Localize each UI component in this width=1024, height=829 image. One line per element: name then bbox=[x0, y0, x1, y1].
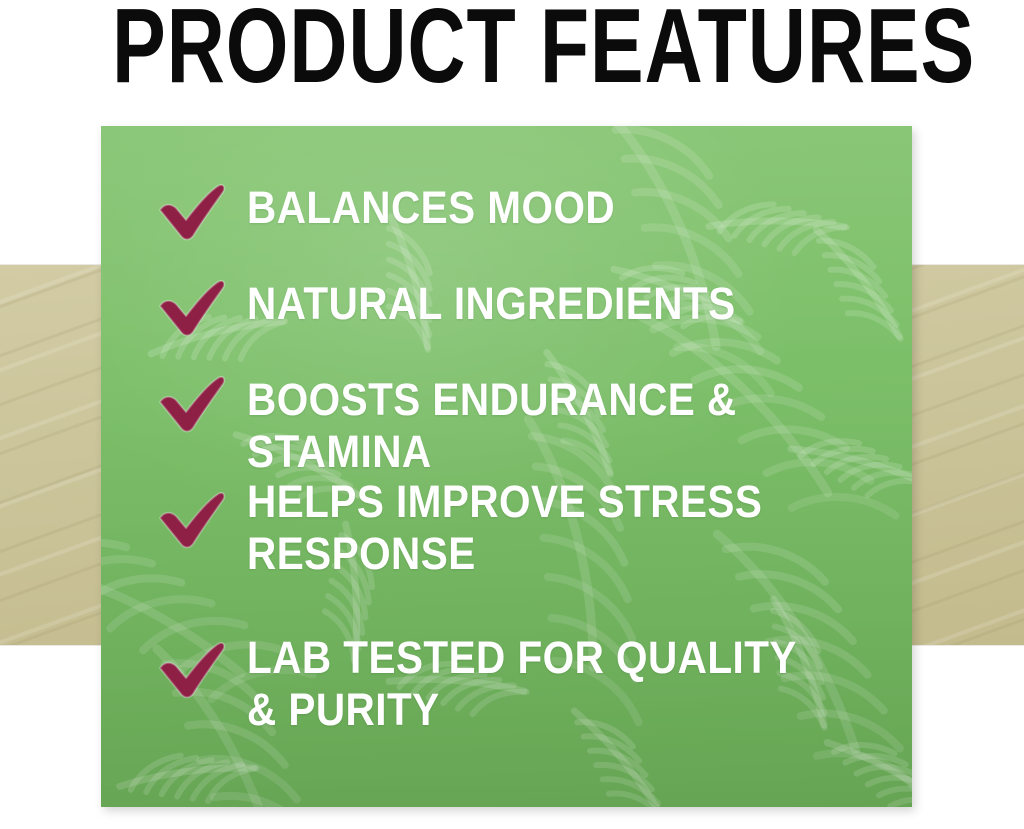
feature-label: HELPS IMPROVE STRESS RESPONSE bbox=[247, 476, 838, 580]
feature-label: BALANCES MOOD bbox=[247, 182, 838, 234]
feature-label: LAB TESTED FOR QUALITY & PURITY bbox=[247, 632, 838, 736]
check-icon bbox=[155, 278, 227, 336]
list-item: HELPS IMPROVE STRESS RESPONSE bbox=[155, 476, 904, 580]
infographic-canvas: PRODUCT FEATURES bbox=[0, 0, 1024, 829]
check-icon bbox=[155, 640, 227, 698]
list-item: BALANCES MOOD bbox=[155, 182, 904, 240]
features-panel: BALANCES MOOD NATURAL INGREDIENTS BOOSTS… bbox=[101, 126, 912, 807]
list-item: BOOSTS ENDURANCE & STAMINA bbox=[155, 374, 904, 478]
check-icon bbox=[155, 374, 227, 432]
feature-label: NATURAL INGREDIENTS bbox=[247, 278, 838, 330]
list-item: NATURAL INGREDIENTS bbox=[155, 278, 904, 336]
list-item: LAB TESTED FOR QUALITY & PURITY bbox=[155, 632, 904, 736]
page-title: PRODUCT FEATURES bbox=[112, 0, 792, 100]
check-icon bbox=[155, 182, 227, 240]
check-icon bbox=[155, 490, 227, 548]
feature-list: BALANCES MOOD NATURAL INGREDIENTS BOOSTS… bbox=[101, 126, 912, 807]
feature-label: BOOSTS ENDURANCE & STAMINA bbox=[247, 374, 838, 478]
